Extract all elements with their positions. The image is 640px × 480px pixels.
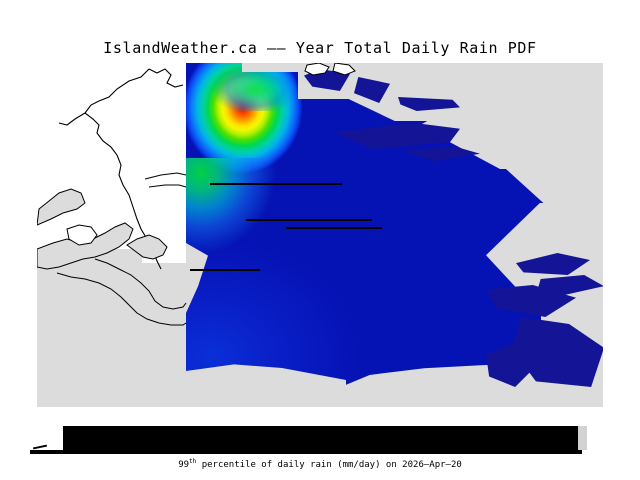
island-southwest-c — [127, 235, 167, 259]
island-north-outline-a — [305, 63, 329, 75]
map-panel — [37, 63, 603, 407]
figure-caption: 99th percentile of daily rain (mm/day) o… — [0, 458, 640, 470]
coastline-strait-south — [149, 185, 186, 187]
colorbar-axis-line — [30, 450, 582, 454]
coastline-mainland-north-spur — [149, 69, 183, 87]
caption-percentile-number: 99 — [178, 460, 189, 470]
coastline-vector-layer — [37, 63, 603, 407]
coastline-mainland-west-spur — [59, 113, 85, 125]
colorbar-end-cap — [578, 426, 587, 450]
page-title: IslandWeather.ca –– Year Total Daily Rai… — [0, 39, 640, 57]
island-southwest-a — [37, 189, 85, 225]
coastline-strait-north — [145, 173, 186, 179]
colorbar — [63, 426, 578, 450]
island-north-outline-b — [333, 63, 355, 75]
caption-description: percentile of daily rain (mm/day) on 202… — [196, 460, 462, 470]
coastline-southwest-shore — [95, 259, 186, 309]
coastline-south-mainland — [57, 273, 186, 325]
colorbar-tick-left — [33, 445, 47, 450]
